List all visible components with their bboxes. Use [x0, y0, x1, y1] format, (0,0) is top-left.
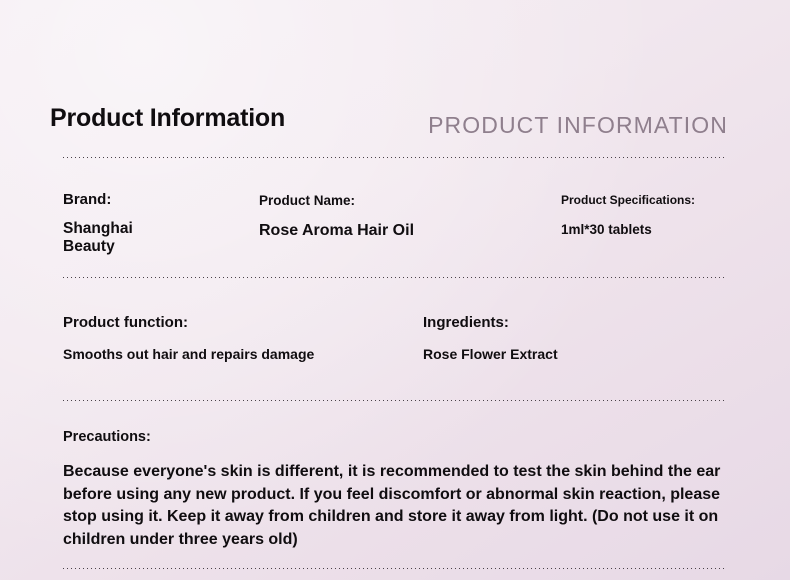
- field-precautions: Precautions: Because everyone's skin is …: [63, 429, 735, 552]
- field-precautions-label: Precautions:: [63, 429, 735, 445]
- field-specifications-value: 1ml*30 tablets: [561, 222, 741, 238]
- field-specifications: Product Specifications: 1ml*30 tablets: [561, 193, 741, 238]
- panel-header: Product Information PRODUCT INFORMATION: [50, 104, 728, 152]
- field-product-name-label: Product Name:: [259, 193, 519, 208]
- field-product-function: Product function: Smooths out hair and r…: [63, 314, 393, 363]
- divider-row-one: [63, 277, 727, 278]
- product-information-panel: Product Information PRODUCT INFORMATION …: [0, 0, 790, 580]
- divider-under-header: [63, 157, 727, 158]
- field-ingredients-label: Ingredients:: [423, 314, 703, 331]
- divider-row-two: [63, 400, 727, 401]
- field-product-function-label: Product function:: [63, 314, 393, 331]
- field-ingredients: Ingredients: Rose Flower Extract: [423, 314, 703, 363]
- field-product-name-value: Rose Aroma Hair Oil: [259, 222, 519, 241]
- page-title: Product Information: [50, 104, 285, 133]
- divider-footer: [63, 568, 727, 569]
- field-brand: Brand: Shanghai Beauty: [63, 191, 223, 257]
- field-product-name: Product Name: Rose Aroma Hair Oil: [259, 193, 519, 241]
- field-brand-value: Shanghai Beauty: [63, 220, 158, 257]
- field-product-function-value: Smooths out hair and repairs damage: [63, 346, 393, 363]
- field-brand-label: Brand:: [63, 191, 223, 208]
- field-precautions-value: Because everyone's skin is different, it…: [63, 461, 735, 552]
- page-title-secondary: PRODUCT INFORMATION: [428, 112, 728, 139]
- field-specifications-label: Product Specifications:: [561, 193, 741, 207]
- field-ingredients-value: Rose Flower Extract: [423, 346, 703, 363]
